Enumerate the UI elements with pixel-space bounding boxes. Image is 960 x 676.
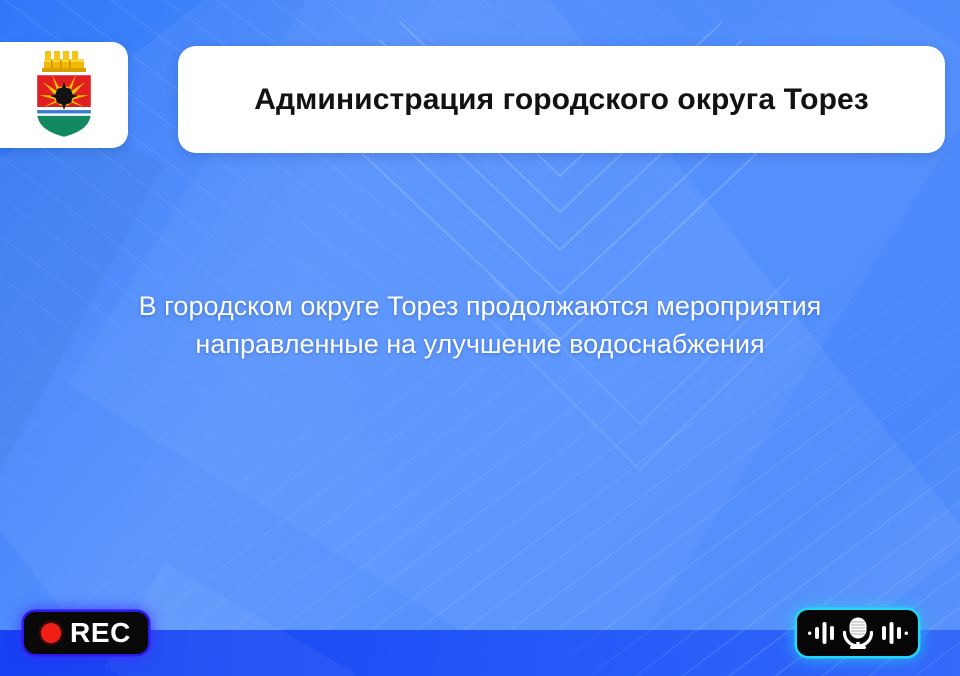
caption-line-1: В городском округе Торез продолжаются ме… (40, 287, 920, 325)
page-title: Администрация городского округа Торез (254, 82, 869, 117)
waveform-bars-left (808, 622, 834, 644)
record-dot-icon (41, 623, 61, 643)
caption-block: В городском округе Торез продолжаются ме… (0, 287, 960, 364)
logo-card (0, 42, 128, 148)
crown-shape (42, 51, 86, 72)
microphone-shape (844, 618, 871, 650)
waveform-bars-right (882, 622, 908, 644)
shield-field (36, 74, 92, 141)
rec-badge[interactable]: REC (24, 612, 148, 654)
caption-line-2: направленные на улучшение водоснабжения (40, 325, 920, 363)
rec-label: REC (70, 619, 131, 647)
microphone-waveform-icon (806, 616, 910, 650)
presentation-slide: Администрация городского округа Торез В … (0, 0, 960, 676)
torez-coat-of-arms-icon (27, 49, 101, 141)
title-card: Администрация городского округа Торез (178, 46, 945, 153)
microphone-widget[interactable] (797, 610, 918, 656)
